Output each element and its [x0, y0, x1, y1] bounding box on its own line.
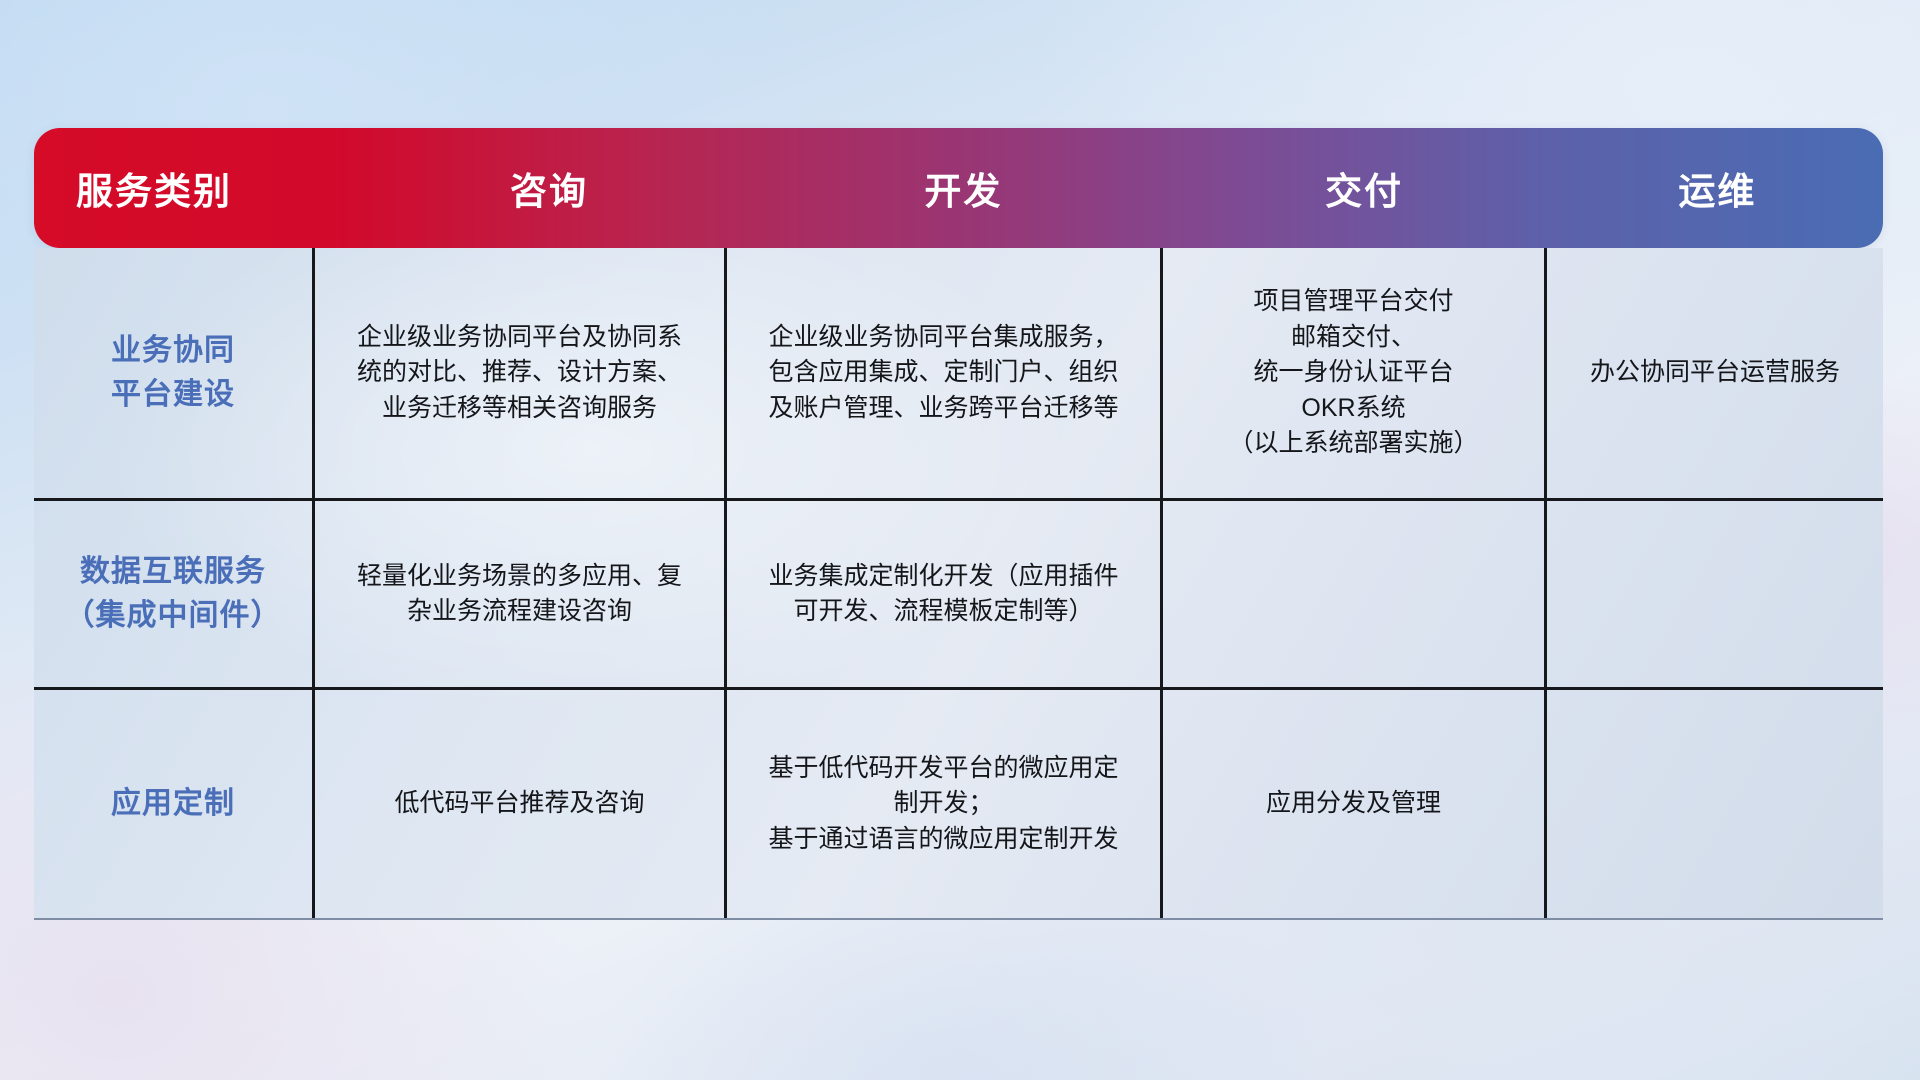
cell-delivery: 应用分发及管理: [1160, 690, 1544, 918]
table-row: 应用定制 低代码平台推荐及咨询 基于低代码开发平台的微应用定 制开发； 基于通过…: [34, 687, 1883, 918]
column-header-operations: 运维: [1552, 128, 1883, 248]
service-matrix-table: 服务类别 咨询 开发 交付 运维 业务协同 平台建设 企业级业务协同平台及协同系…: [34, 128, 1883, 920]
cell-delivery: 项目管理平台交付 邮箱交付、 统一身份认证平台 OKR系统 （以上系统部署实施）: [1160, 248, 1544, 498]
cell-delivery: [1160, 501, 1544, 687]
column-header-consulting: 咨询: [348, 128, 751, 248]
column-header-delivery: 交付: [1176, 128, 1551, 248]
cell-development: 基于低代码开发平台的微应用定 制开发； 基于通过语言的微应用定制开发: [724, 690, 1160, 918]
cell-consulting: 轻量化业务场景的多应用、复 杂业务流程建设咨询: [312, 501, 724, 687]
cell-category: 应用定制: [34, 690, 312, 918]
cell-development: 业务集成定制化开发（应用插件 可开发、流程模板定制等）: [724, 501, 1160, 687]
cell-operations: [1544, 501, 1883, 687]
cell-category: 业务协同 平台建设: [34, 248, 312, 498]
cell-consulting: 低代码平台推荐及咨询: [312, 690, 724, 918]
cell-category: 数据互联服务 （集成中间件）: [34, 501, 312, 687]
table-header-row: 服务类别 咨询 开发 交付 运维: [34, 128, 1883, 248]
column-header-category: 服务类别: [34, 128, 348, 248]
table-row: 业务协同 平台建设 企业级业务协同平台及协同系 统的对比、推荐、设计方案、 业务…: [34, 248, 1883, 498]
cell-consulting: 企业级业务协同平台及协同系 统的对比、推荐、设计方案、 业务迁移等相关咨询服务: [312, 248, 724, 498]
table-row: 数据互联服务 （集成中间件） 轻量化业务场景的多应用、复 杂业务流程建设咨询 业…: [34, 498, 1883, 687]
cell-development: 企业级业务协同平台集成服务， 包含应用集成、定制门户、组织 及账户管理、业务跨平…: [724, 248, 1160, 498]
cell-operations: 办公协同平台运营服务: [1544, 248, 1883, 498]
column-header-development: 开发: [750, 128, 1176, 248]
table-body: 业务协同 平台建设 企业级业务协同平台及协同系 统的对比、推荐、设计方案、 业务…: [34, 248, 1883, 920]
cell-operations: [1544, 690, 1883, 918]
